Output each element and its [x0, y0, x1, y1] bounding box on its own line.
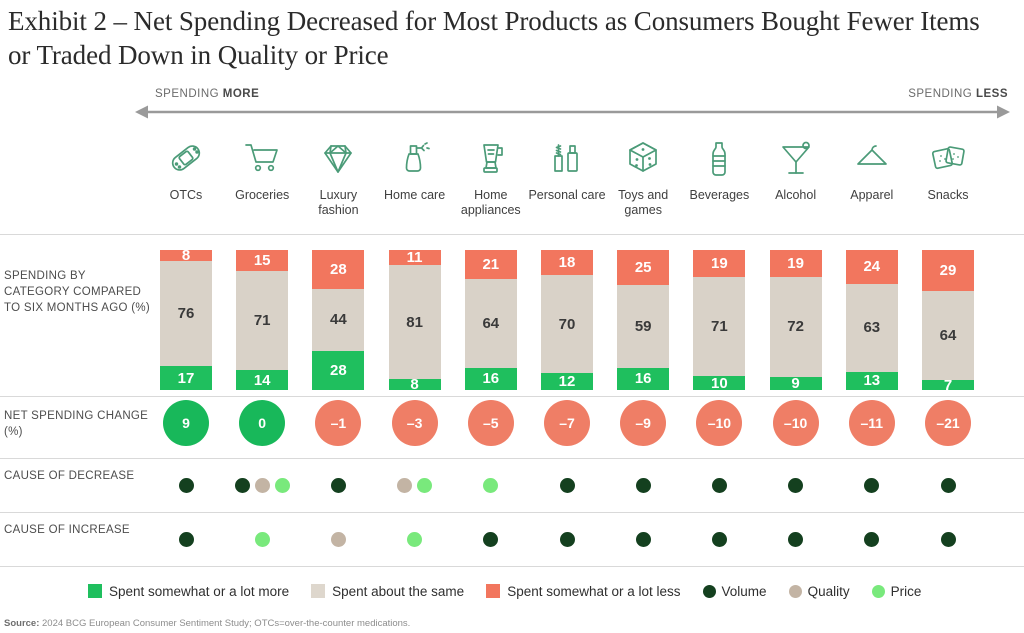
dot-quality-icon — [331, 532, 346, 547]
bar-segment-less: 24 — [846, 250, 898, 284]
legend-label: Price — [891, 584, 922, 599]
cause-of-decrease-group — [147, 472, 225, 498]
net-change-badge: –9 — [620, 400, 666, 446]
bar-column: 246313 — [846, 250, 898, 390]
bar-segment-same: 76 — [160, 261, 212, 366]
net-change-badge: –1 — [315, 400, 361, 446]
cause-of-decrease-row — [0, 472, 1024, 498]
bar-value-label: 12 — [559, 373, 576, 390]
bar-value-label: 64 — [482, 315, 499, 332]
bar-segment-more: 13 — [846, 372, 898, 390]
legend-item: Spent somewhat or a lot less — [486, 584, 680, 599]
dot-quality-icon — [255, 478, 270, 493]
legend-label: Quality — [808, 584, 850, 599]
dot-volume-icon — [331, 478, 346, 493]
bar-value-label: 71 — [711, 318, 728, 335]
spending-less-label: SPENDING LESS — [908, 88, 1008, 100]
cause-of-decrease-group — [909, 472, 987, 498]
bar-segment-more: 9 — [770, 377, 822, 390]
page-title: Exhibit 2 – Net Spending Decreased for M… — [8, 4, 1008, 72]
spending-more-emphasis: MORE — [223, 88, 260, 100]
dot-volume-icon — [712, 478, 727, 493]
category-label: Beverages — [680, 188, 758, 203]
bottle-icon — [680, 133, 758, 183]
cause-of-decrease-group — [833, 472, 911, 498]
legend-label: Spent about the same — [332, 584, 464, 599]
bar-segment-less: 21 — [465, 250, 517, 279]
net-change-value: –7 — [559, 415, 575, 431]
net-change-value: –9 — [635, 415, 651, 431]
dot-volume-icon — [179, 478, 194, 493]
net-change-value: 0 — [258, 415, 266, 431]
divider-legend — [0, 566, 1024, 567]
square-swatch-more — [88, 584, 102, 598]
bar-value-label: 21 — [482, 256, 499, 273]
net-change-value: –10 — [708, 415, 731, 431]
bar-segment-more: 17 — [160, 366, 212, 390]
category-header-home-appliances: Home appliances — [452, 133, 530, 218]
bar-segment-less: 8 — [160, 250, 212, 261]
cause-of-increase-group — [604, 526, 682, 552]
cause-of-increase-group — [223, 526, 301, 552]
cocktail-glass-icon — [757, 133, 835, 183]
chart-legend: Spent somewhat or a lot moreSpent about … — [88, 580, 1008, 602]
spending-axis-band: SPENDING MORE SPENDING LESS — [0, 88, 1024, 126]
cause-of-increase-group — [680, 526, 758, 552]
net-change-badge: –3 — [392, 400, 438, 446]
dot-volume-icon — [560, 532, 575, 547]
dot-volume-icon — [235, 478, 250, 493]
net-change-value: 9 — [182, 415, 190, 431]
bar-segment-more: 16 — [465, 368, 517, 390]
dot-volume-icon — [941, 532, 956, 547]
bar-value-label: 9 — [791, 375, 799, 392]
dot-price-icon — [407, 532, 422, 547]
stacked-bar-chart: 8761715711428442811818216416187012255916… — [0, 250, 1024, 390]
dice-icon — [604, 133, 682, 183]
legend-label: Spent somewhat or a lot less — [507, 584, 680, 599]
dot-volume-icon — [712, 532, 727, 547]
bar-value-label: 70 — [559, 316, 576, 333]
category-header-luxury-fashion: Luxury fashion — [299, 133, 377, 218]
bar-column: 255916 — [617, 250, 669, 390]
dot-price-icon — [275, 478, 290, 493]
net-change-badge: –10 — [696, 400, 742, 446]
bar-segment-less: 11 — [389, 250, 441, 265]
cause-of-increase-group — [528, 526, 606, 552]
net-change-value: –10 — [784, 415, 807, 431]
divider-top — [0, 234, 1024, 235]
cause-of-increase-group — [299, 526, 377, 552]
bar-segment-more: 14 — [236, 370, 288, 390]
source-prefix: Source: — [4, 618, 39, 629]
bar-segment-more: 10 — [693, 376, 745, 390]
category-header-row: OTCsGroceriesLuxury fashionHome careHome… — [0, 133, 1024, 229]
dot-price-icon — [483, 478, 498, 493]
dot-price-icon — [417, 478, 432, 493]
square-swatch-less — [486, 584, 500, 598]
bar-segment-less: 25 — [617, 250, 669, 285]
bar-column: 157114 — [236, 250, 288, 390]
category-label: Apparel — [833, 188, 911, 203]
bar-value-label: 13 — [863, 372, 880, 389]
net-change-badge: 0 — [239, 400, 285, 446]
net-change-badge: –21 — [925, 400, 971, 446]
crackers-icon — [909, 133, 987, 183]
bar-segment-same: 64 — [465, 279, 517, 368]
cause-of-decrease-group — [452, 472, 530, 498]
net-spending-change-row: 90–1–3–5–7–9–10–10–11–21 — [0, 400, 1024, 452]
bar-segment-less: 18 — [541, 250, 593, 275]
bar-value-label: 28 — [330, 261, 347, 278]
bar-value-label: 76 — [178, 305, 195, 322]
net-change-value: –3 — [407, 415, 423, 431]
bar-column: 11818 — [389, 250, 441, 390]
bar-value-label: 29 — [940, 262, 957, 279]
bar-segment-same: 44 — [312, 289, 364, 351]
spray-bottle-icon — [376, 133, 454, 183]
dot-volume-icon — [864, 532, 879, 547]
category-header-beverages: Beverages — [680, 133, 758, 203]
net-change-badge: –7 — [544, 400, 590, 446]
net-change-badge: 9 — [163, 400, 209, 446]
cause-of-decrease-group — [528, 472, 606, 498]
bar-segment-less: 29 — [922, 250, 974, 291]
bar-segment-same: 63 — [846, 284, 898, 372]
bar-column: 197110 — [693, 250, 745, 390]
dot-volume-icon — [560, 478, 575, 493]
bar-value-label: 15 — [254, 252, 271, 269]
bar-value-label: 72 — [787, 318, 804, 335]
bar-segment-more: 7 — [922, 380, 974, 390]
net-change-badge: –11 — [849, 400, 895, 446]
cause-of-decrease-group — [299, 472, 377, 498]
net-change-value: –21 — [936, 415, 959, 431]
dot-price-icon — [255, 532, 270, 547]
source-note: Source: 2024 BCG European Consumer Senti… — [4, 618, 410, 629]
bar-value-label: 7 — [944, 377, 952, 394]
cause-of-decrease-group — [757, 472, 835, 498]
bar-column: 284428 — [312, 250, 364, 390]
cause-of-increase-group — [909, 526, 987, 552]
diamond-icon — [299, 133, 377, 183]
legend-label: Volume — [722, 584, 767, 599]
shopping-cart-icon — [223, 133, 301, 183]
bar-column: 87617 — [160, 250, 212, 390]
bar-value-label: 10 — [711, 375, 728, 392]
legend-item: Spent somewhat or a lot more — [88, 584, 289, 599]
divider-increase — [0, 512, 1024, 513]
bar-value-label: 25 — [635, 259, 652, 276]
bar-segment-less: 19 — [693, 250, 745, 277]
double-arrow-icon — [135, 104, 1010, 120]
bar-segment-same: 64 — [922, 291, 974, 381]
bar-value-label: 16 — [635, 370, 652, 387]
bar-column: 216416 — [465, 250, 517, 390]
dot-volume-icon — [636, 532, 651, 547]
cause-of-increase-group — [376, 526, 454, 552]
bar-column: 19729 — [770, 250, 822, 390]
bar-value-label: 81 — [406, 314, 423, 331]
cause-of-increase-row — [0, 526, 1024, 552]
dot-volume — [703, 585, 716, 598]
category-header-toys-and-games: Toys and games — [604, 133, 682, 218]
net-change-value: –5 — [483, 415, 499, 431]
bar-column: 187012 — [541, 250, 593, 390]
category-label: OTCs — [147, 188, 225, 203]
bar-segment-more: 16 — [617, 368, 669, 390]
bar-segment-same: 81 — [389, 265, 441, 378]
legend-item: Quality — [789, 584, 850, 599]
dot-quality — [789, 585, 802, 598]
source-text: 2024 BCG European Consumer Sentiment Stu… — [42, 618, 410, 629]
category-header-alcohol: Alcohol — [757, 133, 835, 203]
spending-more-label: SPENDING MORE — [155, 88, 259, 100]
bar-value-label: 19 — [787, 255, 804, 272]
legend-item: Spent about the same — [311, 584, 464, 599]
bar-value-label: 24 — [863, 258, 880, 275]
square-swatch-same — [311, 584, 325, 598]
hanger-icon — [833, 133, 911, 183]
bar-segment-less: 19 — [770, 250, 822, 277]
bar-segment-same: 71 — [236, 271, 288, 370]
dot-volume-icon — [788, 478, 803, 493]
category-header-groceries: Groceries — [223, 133, 301, 203]
category-label: Personal care — [528, 188, 606, 203]
bar-segment-more: 12 — [541, 373, 593, 390]
divider-net — [0, 396, 1024, 397]
cause-of-decrease-group — [376, 472, 454, 498]
blender-icon — [452, 133, 530, 183]
category-header-otcs: OTCs — [147, 133, 225, 203]
bar-segment-more: 28 — [312, 351, 364, 390]
dot-volume-icon — [864, 478, 879, 493]
bar-value-label: 19 — [711, 255, 728, 272]
bar-value-label: 11 — [407, 249, 423, 266]
category-label: Groceries — [223, 188, 301, 203]
bar-segment-same: 71 — [693, 277, 745, 376]
bar-value-label: 18 — [559, 254, 576, 271]
dot-volume-icon — [636, 478, 651, 493]
legend-label: Spent somewhat or a lot more — [109, 584, 289, 599]
bar-value-label: 17 — [178, 370, 195, 387]
dot-price — [872, 585, 885, 598]
bar-column: 29647 — [922, 250, 974, 390]
bar-value-label: 8 — [410, 376, 418, 393]
divider-decrease — [0, 458, 1024, 459]
dot-quality-icon — [397, 478, 412, 493]
category-header-home-care: Home care — [376, 133, 454, 203]
bar-segment-same: 70 — [541, 275, 593, 373]
category-label: Home care — [376, 188, 454, 203]
bar-value-label: 44 — [330, 311, 347, 328]
bar-segment-less: 15 — [236, 250, 288, 271]
category-header-apparel: Apparel — [833, 133, 911, 203]
category-label: Snacks — [909, 188, 987, 203]
legend-item: Volume — [703, 584, 767, 599]
net-change-badge: –5 — [468, 400, 514, 446]
dot-volume-icon — [483, 532, 498, 547]
bar-value-label: 71 — [254, 312, 271, 329]
bar-value-label: 16 — [482, 370, 499, 387]
bar-segment-less: 28 — [312, 250, 364, 289]
net-change-value: –1 — [331, 415, 347, 431]
dot-volume-icon — [179, 532, 194, 547]
bar-value-label: 63 — [863, 319, 880, 336]
category-header-snacks: Snacks — [909, 133, 987, 203]
cause-of-decrease-group — [223, 472, 301, 498]
category-label: Toys and games — [604, 188, 682, 218]
cosmetics-icon — [528, 133, 606, 183]
bar-segment-same: 72 — [770, 277, 822, 378]
bar-value-label: 64 — [940, 327, 957, 344]
cause-of-decrease-group — [680, 472, 758, 498]
legend-item: Price — [872, 584, 922, 599]
cause-of-increase-group — [452, 526, 530, 552]
cause-of-increase-group — [833, 526, 911, 552]
spending-less-emphasis: LESS — [976, 88, 1008, 100]
bandage-icon — [147, 133, 225, 183]
category-header-personal-care: Personal care — [528, 133, 606, 203]
cause-of-increase-group — [757, 526, 835, 552]
dot-volume-icon — [788, 532, 803, 547]
net-change-value: –11 — [861, 415, 884, 431]
bar-segment-more: 8 — [389, 379, 441, 390]
cause-of-decrease-group — [604, 472, 682, 498]
cause-of-increase-group — [147, 526, 225, 552]
category-label: Alcohol — [757, 188, 835, 203]
dot-volume-icon — [941, 478, 956, 493]
bar-value-label: 59 — [635, 318, 652, 335]
bar-segment-same: 59 — [617, 285, 669, 368]
category-label: Home appliances — [452, 188, 530, 218]
category-label: Luxury fashion — [299, 188, 377, 218]
bar-value-label: 28 — [330, 362, 347, 379]
bar-value-label: 14 — [254, 372, 271, 389]
net-change-badge: –10 — [773, 400, 819, 446]
